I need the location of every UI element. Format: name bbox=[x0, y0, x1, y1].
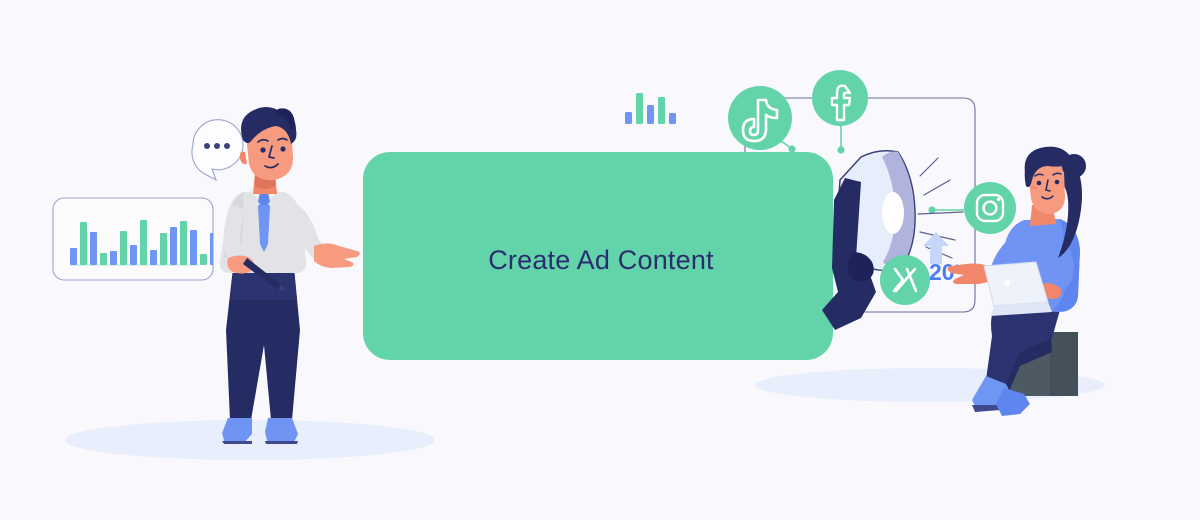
man-shoe-right bbox=[265, 418, 298, 444]
illustration-canvas: 20 % bbox=[0, 0, 1200, 520]
bar-chart-card bbox=[53, 198, 217, 280]
x-twitter-icon[interactable] bbox=[880, 255, 930, 305]
woman-hair-bun bbox=[1062, 154, 1086, 178]
connector-dot-facebook bbox=[837, 146, 844, 153]
connector-dot-tiktok bbox=[788, 145, 795, 152]
speech-bubble-dots bbox=[204, 143, 230, 149]
instagram-icon[interactable] bbox=[964, 182, 1016, 234]
megaphone-highlight bbox=[882, 192, 904, 234]
connector-dot-instagram bbox=[928, 206, 935, 213]
facebook-icon[interactable] bbox=[812, 70, 868, 126]
cta-button[interactable] bbox=[363, 152, 833, 360]
scene-svg: 20 % bbox=[0, 0, 1200, 520]
tiktok-icon[interactable] bbox=[728, 86, 792, 150]
